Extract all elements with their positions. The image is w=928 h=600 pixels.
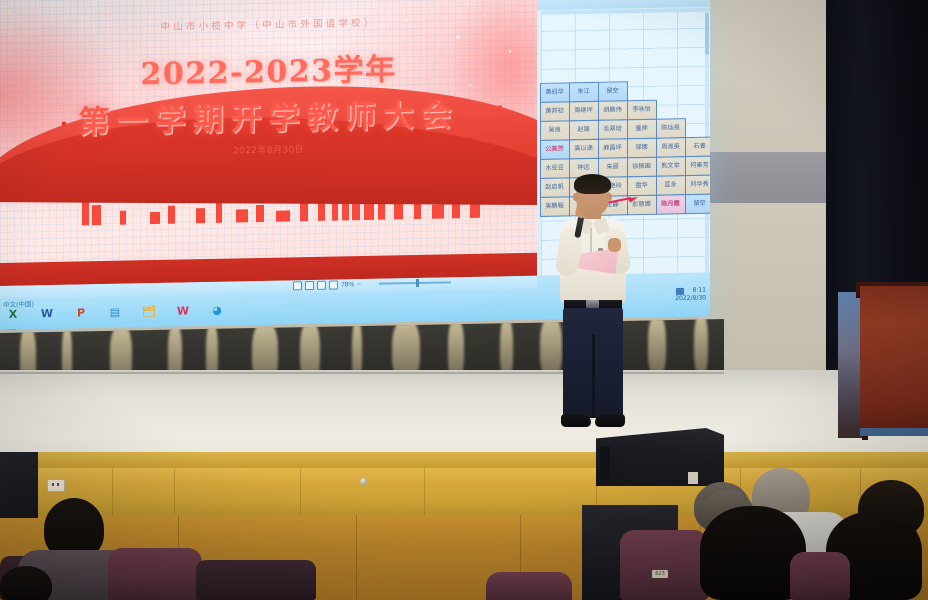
excel-cell[interactable]: 周淑英 — [656, 137, 686, 158]
slideshow-icon[interactable] — [329, 281, 338, 290]
excel-cell[interactable]: 何秦芳 — [685, 155, 711, 176]
podium-lectern — [838, 278, 928, 446]
wps-icon[interactable]: W — [176, 304, 190, 318]
seat-number-tag: 623 — [652, 570, 668, 578]
presenter-shoe-right — [595, 414, 625, 427]
clock-date: 2022/8/30 — [675, 294, 706, 303]
excel-cell[interactable]: 麻昌坪 — [598, 138, 628, 159]
presenter-shoe-left — [561, 414, 591, 427]
excel-cell[interactable]: 石睿 — [685, 136, 711, 157]
excel-cell[interactable]: 朱江 — [569, 81, 599, 102]
excel-cell[interactable]: 吴良 — [540, 120, 570, 141]
excel-icon[interactable]: X — [6, 308, 20, 322]
normal-view-icon[interactable] — [293, 281, 302, 290]
word-icon[interactable]: W — [40, 307, 54, 321]
folder-icon[interactable]: ▤ — [108, 306, 122, 320]
excel-cell[interactable]: 邹娜 — [627, 137, 657, 158]
excel-cell[interactable]: 毛翠培 — [598, 119, 628, 140]
ppt-slide: 中山市小榄中学（中山市外国语学校） 2022-2023学年 第一学期开学教师大会… — [0, 0, 537, 303]
excel-cell[interactable]: 周继坪 — [569, 100, 599, 121]
reading-view-icon[interactable] — [317, 281, 326, 290]
ppt-view-controls[interactable]: 78% − — [293, 280, 361, 290]
excel-cell[interactable]: 胡鹏伟 — [598, 100, 628, 121]
presenter — [548, 176, 640, 436]
zoom-slider[interactable] — [379, 281, 451, 284]
excel-cell[interactable]: 留空 — [685, 193, 711, 214]
speaker-left — [0, 452, 38, 518]
zoom-level-label: 78% — [341, 281, 354, 288]
system-clock[interactable]: 8:11 2022/8/30 — [675, 286, 706, 303]
excel-cell[interactable]: 黄冠华 — [540, 82, 570, 103]
excel-cell[interactable]: 留空 — [598, 81, 628, 102]
excel-cell[interactable]: 刘华秀 — [685, 174, 711, 195]
taskbar-icon-list[interactable]: XWP▤🗂W◕ — [6, 304, 224, 322]
zoom-out-button[interactable]: − — [357, 281, 361, 288]
excel-cell[interactable]: 朱丽 — [598, 157, 628, 178]
excel-cell[interactable]: 熊文举 — [656, 156, 686, 177]
excel-cell[interactable]: 李咏怡 — [627, 99, 657, 120]
screenshot-root: 中山市小榄中学（中山市外国语学校） 2022-2023学年 第一学期开学教师大会… — [0, 0, 928, 600]
audience-member-7 — [858, 480, 924, 538]
excel-cell-highlighted[interactable]: 陈月霞 — [656, 194, 686, 215]
wall-upper-panel — [700, 0, 840, 155]
stage-monitor-speaker — [596, 428, 724, 486]
slide-sorter-icon[interactable] — [305, 281, 314, 290]
excel-cell[interactable]: 赵锡 — [569, 119, 599, 140]
edge-browser-icon[interactable]: ◕ — [210, 304, 224, 318]
excel-cell[interactable]: 童帅 — [627, 118, 657, 139]
wall-power-outlet — [47, 479, 65, 492]
excel-cell[interactable]: 徐振国 — [627, 156, 657, 177]
excel-cell[interactable]: 公美芳 — [540, 139, 570, 160]
audience-member-2 — [0, 566, 52, 600]
excel-cell[interactable]: 黄邦初 — [540, 101, 570, 122]
stage-bolt — [360, 478, 367, 485]
excel-cell[interactable]: 匡永 — [656, 175, 686, 196]
wall-grey-band — [700, 152, 828, 204]
excel-scroll-thumb[interactable] — [705, 13, 709, 55]
excel-cell[interactable]: 陈灿良 — [656, 118, 686, 139]
zoom-slider-handle[interactable] — [416, 279, 419, 287]
file-explorer-icon[interactable]: 🗂 — [142, 305, 156, 319]
excel-cell[interactable]: 高以递 — [569, 138, 599, 159]
powerpoint-icon[interactable]: P — [74, 306, 88, 320]
